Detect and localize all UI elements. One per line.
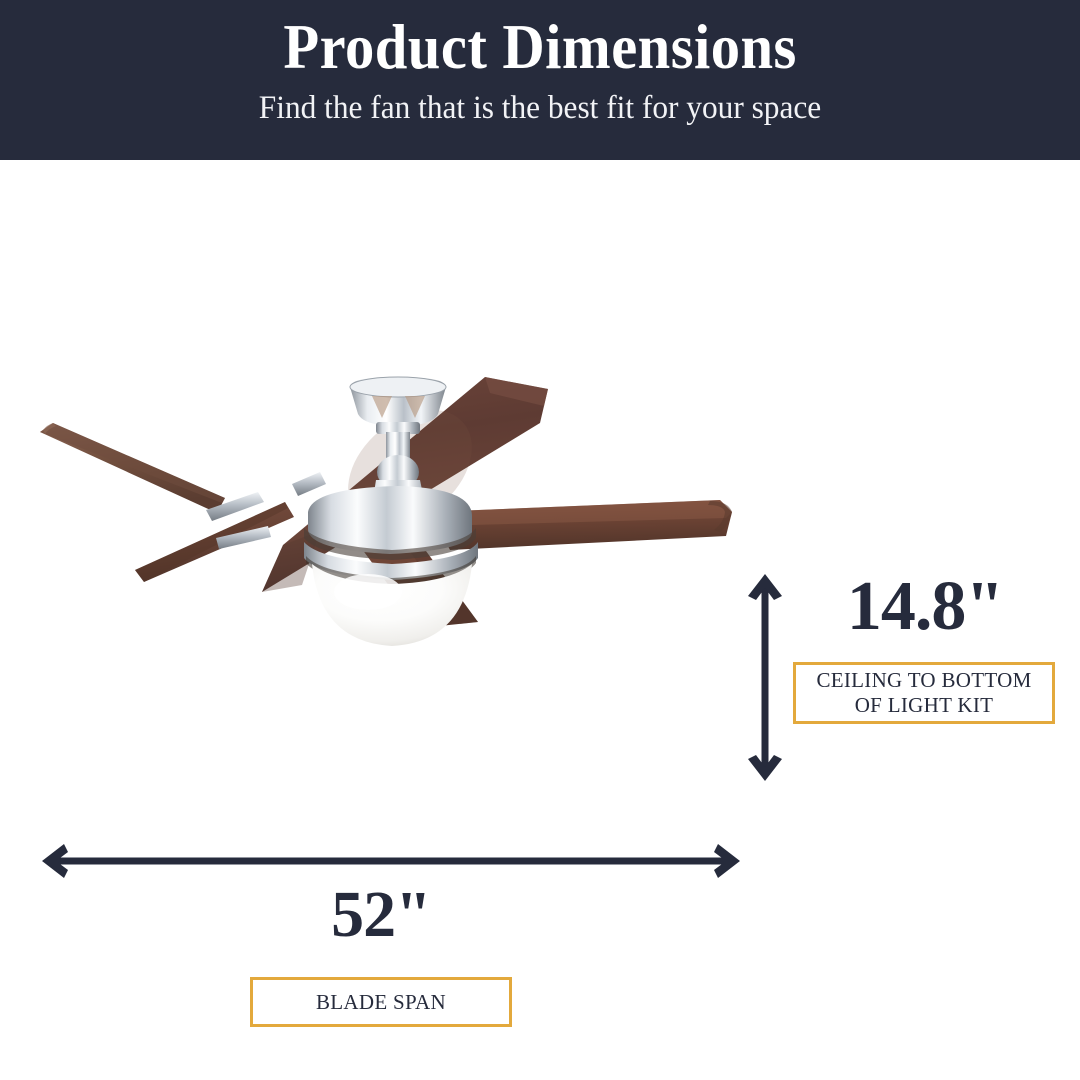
diagram-canvas: 14.8" CEILING TO BOTTOM OF LIGHT KIT 52"… <box>0 160 1080 1080</box>
fan-motor-housing <box>304 486 478 585</box>
page-title: Product Dimensions <box>283 8 796 86</box>
page-subtitle: Find the fan that is the best fit for yo… <box>259 88 821 128</box>
blade-span-callout-label: BLADE SPAN <box>310 990 452 1015</box>
height-dimension-value: 14.8" <box>790 565 1060 649</box>
fan-blade-right <box>430 500 732 550</box>
height-callout-line2: OF LIGHT KIT <box>855 693 994 717</box>
fan-blade-upper-left <box>40 423 225 513</box>
ceiling-fan-illustration <box>20 360 760 660</box>
vertical-dimension-arrow <box>744 570 786 785</box>
height-callout-label: CEILING TO BOTTOM OF LIGHT KIT <box>810 668 1037 718</box>
blade-span-value: 52" <box>250 875 512 955</box>
blade-span-callout: BLADE SPAN <box>250 977 512 1027</box>
height-dimension-callout: CEILING TO BOTTOM OF LIGHT KIT <box>793 662 1055 724</box>
header-banner: Product Dimensions Find the fan that is … <box>0 0 1080 160</box>
height-callout-line1: CEILING TO BOTTOM <box>816 668 1031 692</box>
